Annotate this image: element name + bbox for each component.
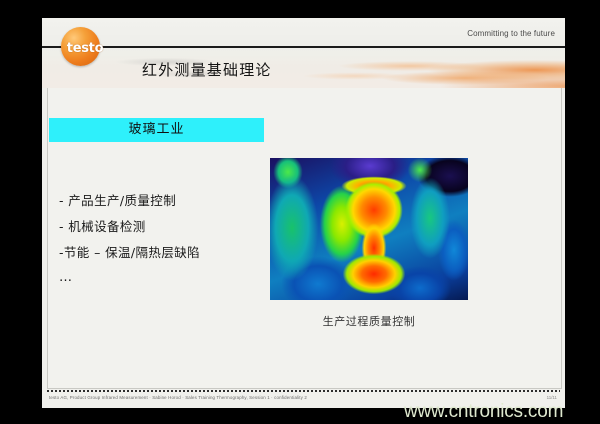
screenshot-stage: testo Committing to the future 红外测量基础理论 …	[0, 0, 600, 424]
testo-logo-wordmark: testo	[56, 42, 114, 56]
slide-content-panel: 玻璃工业 - 产品生产/质量控制 - 机械设备检测 -节能 – 保温/隔热层缺陷…	[47, 88, 562, 389]
footer-page-number: 11/11	[547, 395, 557, 400]
thermal-image	[270, 158, 468, 300]
presentation-slide: testo Committing to the future 红外测量基础理论 …	[42, 18, 565, 408]
slide-title: 红外测量基础理论	[142, 59, 272, 80]
figure-caption: 生产过程质量控制	[270, 313, 468, 329]
slide-header: testo Committing to the future 红外测量基础理论	[42, 18, 565, 88]
section-banner-label: 玻璃工业	[49, 118, 264, 142]
thermal-image-content	[270, 158, 468, 300]
header-divider-rule	[42, 46, 565, 48]
bullet-item: - 机械设备检测	[59, 214, 279, 240]
footer-divider	[47, 390, 560, 392]
section-banner: 玻璃工业	[49, 118, 264, 142]
company-tagline: Committing to the future	[467, 29, 555, 38]
bullet-list: - 产品生产/质量控制 - 机械设备检测 -节能 – 保温/隔热层缺陷 …	[59, 188, 279, 290]
site-watermark: www.cntronics.com	[404, 401, 563, 423]
footer-text: testo AG, Product Group Infrared Measure…	[49, 395, 307, 400]
bullet-item: -节能 – 保温/隔热层缺陷	[59, 240, 279, 266]
bullet-item-ellipsis: …	[59, 266, 279, 290]
bullet-item: - 产品生产/质量控制	[59, 188, 279, 214]
header-flame-texture	[235, 46, 565, 88]
